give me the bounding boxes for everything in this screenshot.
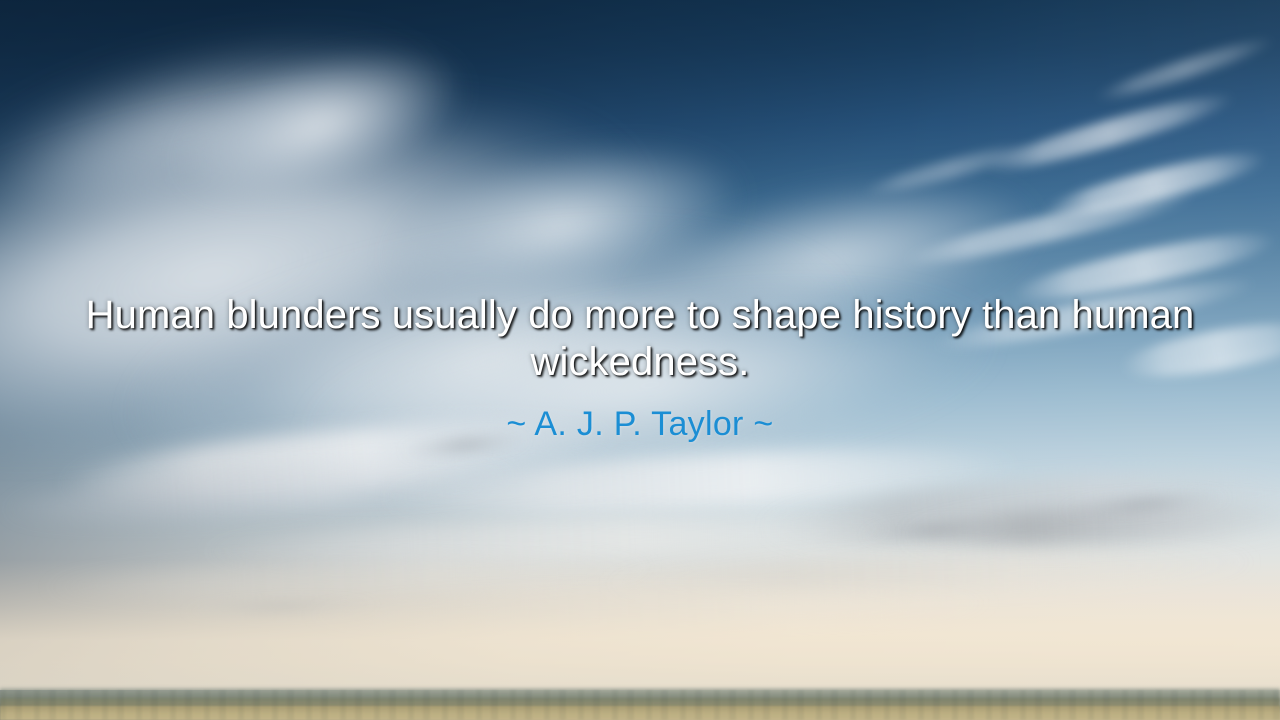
land-texture-overlay: [0, 690, 1280, 720]
quote-text: Human blunders usually do more to shape …: [80, 292, 1200, 386]
horizon-haze: [0, 560, 1280, 690]
quote-attribution: ~ A. J. P. Taylor ~: [80, 404, 1200, 444]
quote-block: Human blunders usually do more to shape …: [80, 292, 1200, 444]
quote-image-canvas: Human blunders usually do more to shape …: [0, 0, 1280, 720]
